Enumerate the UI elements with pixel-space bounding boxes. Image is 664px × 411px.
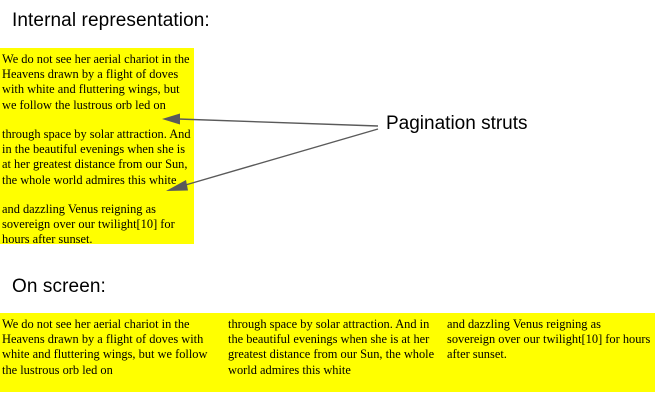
internal-paragraph: We do not see her aerial chariot in the …	[2, 52, 192, 113]
callout-label-pagination-struts: Pagination struts	[386, 113, 528, 135]
internal-paragraph: through space by solar attraction. And i…	[2, 127, 192, 188]
on-screen-column: We do not see her aerial chariot in the …	[2, 317, 224, 378]
on-screen-text-block: We do not see her aerial chariot in the …	[0, 313, 655, 392]
leader-line-upper-stem	[178, 119, 378, 126]
on-screen-column: through space by solar attraction. And i…	[228, 317, 443, 378]
leader-line-lower	[166, 129, 378, 191]
slide-canvas: Internal representation: We do not see h…	[0, 0, 664, 411]
internal-paragraph: and dazzling Venus reigning as sovereign…	[2, 202, 192, 248]
on-screen-column: and dazzling Venus reigning as sovereign…	[447, 317, 652, 363]
heading-on-screen: On screen:	[12, 276, 106, 298]
heading-internal-representation: Internal representation:	[12, 10, 210, 32]
leader-line-upper	[162, 114, 378, 127]
internal-representation-text-block: We do not see her aerial chariot in the …	[0, 48, 194, 244]
leader-line-lower-stem	[182, 129, 378, 186]
